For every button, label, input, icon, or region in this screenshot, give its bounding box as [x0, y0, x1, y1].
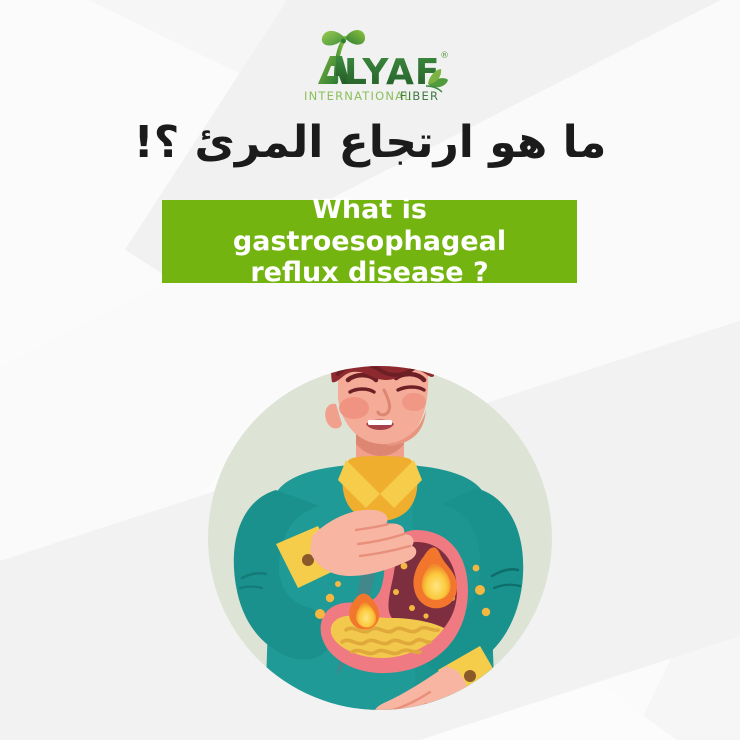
- cuff-button-lower: [464, 670, 476, 682]
- reflux-illustration: [180, 340, 580, 740]
- figure-cheek-left: [339, 397, 369, 419]
- english-headline-line1: What is gastroesophageal: [172, 194, 567, 257]
- english-headline-line2: reflux disease ?: [172, 257, 567, 289]
- logo-tagline-secondary: FIBER: [400, 89, 439, 103]
- poster-canvas: LYAF ® INTERNATIONAL FIBER ما هو ارتجاع …: [0, 0, 740, 740]
- logo-registered-icon: ®: [440, 51, 449, 61]
- english-headline-text: What is gastroesophageal reflux disease …: [162, 194, 577, 289]
- logo-tagline-primary: INTERNATIONAL: [304, 89, 412, 103]
- figure-teeth: [368, 420, 392, 425]
- english-headline-banner: What is gastroesophageal reflux disease …: [162, 200, 577, 283]
- arabic-headline: ما هو ارتجاع المرئ ؟!: [0, 117, 740, 168]
- figure-cheek-right: [402, 393, 426, 411]
- logo-wordmark: LYAF: [344, 52, 440, 93]
- alyaf-logo: LYAF ® INTERNATIONAL FIBER: [296, 22, 466, 104]
